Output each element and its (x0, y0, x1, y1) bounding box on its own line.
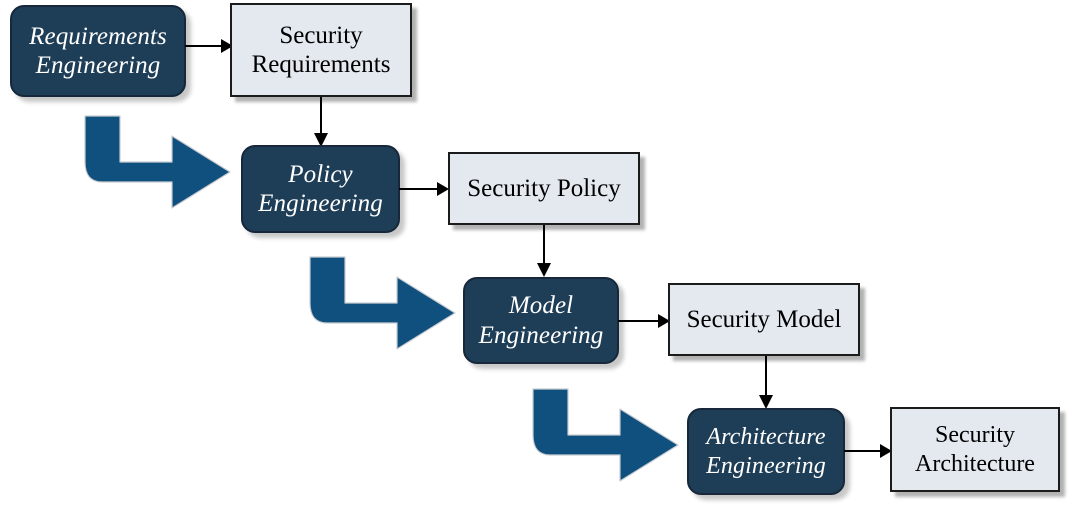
process-node-model-engineering[interactable]: Model Engineering (463, 277, 619, 364)
artifact-label-security-requirements: Security Requirements (252, 21, 391, 80)
process-label-line2: Engineering (479, 321, 604, 351)
connector-policy-eng-to-sec-pol (399, 179, 449, 199)
connector-arch-eng-to-sec-arch (844, 441, 892, 461)
connector-sec-mod-to-arch-eng (756, 356, 776, 409)
artifact-node-security-architecture[interactable]: Security Architecture (890, 407, 1060, 492)
process-node-architecture-engineering[interactable]: Architecture Engineering (687, 408, 845, 495)
hook-arrow-requirements-to-policy (80, 114, 232, 212)
process-label-line1: Model (479, 291, 604, 321)
artifact-node-security-policy[interactable]: Security Policy (448, 152, 640, 225)
artifact-node-security-model[interactable]: Security Model (668, 283, 860, 356)
artifact-label-line2: Requirements (252, 50, 391, 80)
process-label-line2: Engineering (29, 51, 167, 81)
hook-arrow-policy-to-model (305, 255, 457, 353)
artifact-label-security-architecture: Security Architecture (915, 421, 1035, 478)
process-label-requirements-engineering: Requirements Engineering (29, 22, 167, 81)
process-label-line1: Policy (258, 160, 383, 190)
diagram-canvas: Requirements Engineering Security Requir… (0, 0, 1075, 505)
artifact-label-line1: Security Policy (467, 174, 620, 204)
process-label-policy-engineering: Policy Engineering (258, 160, 383, 219)
connector-sec-pol-to-model-eng (534, 225, 554, 277)
process-label-line2: Engineering (258, 189, 383, 219)
process-label-architecture-engineering: Architecture Engineering (706, 423, 826, 480)
artifact-label-security-model: Security Model (687, 305, 842, 335)
hook-arrow-model-to-architecture (528, 387, 680, 485)
connector-req-eng-to-sec-req (185, 36, 233, 56)
artifact-label-line1: Security Model (687, 305, 842, 335)
artifact-label-line1: Security (915, 421, 1035, 449)
artifact-label-line2: Architecture (915, 450, 1035, 478)
process-label-model-engineering: Model Engineering (479, 291, 604, 350)
artifact-node-security-requirements[interactable]: Security Requirements (230, 3, 412, 97)
process-label-line2: Engineering (706, 452, 826, 480)
connector-model-eng-to-sec-mod (618, 311, 670, 331)
connector-sec-req-to-policy-eng (311, 97, 331, 147)
process-label-line1: Requirements (29, 22, 167, 52)
artifact-label-line1: Security (252, 21, 391, 51)
process-label-line1: Architecture (706, 423, 826, 451)
process-node-requirements-engineering[interactable]: Requirements Engineering (10, 5, 186, 97)
process-node-policy-engineering[interactable]: Policy Engineering (241, 145, 400, 233)
artifact-label-security-policy: Security Policy (467, 174, 620, 204)
